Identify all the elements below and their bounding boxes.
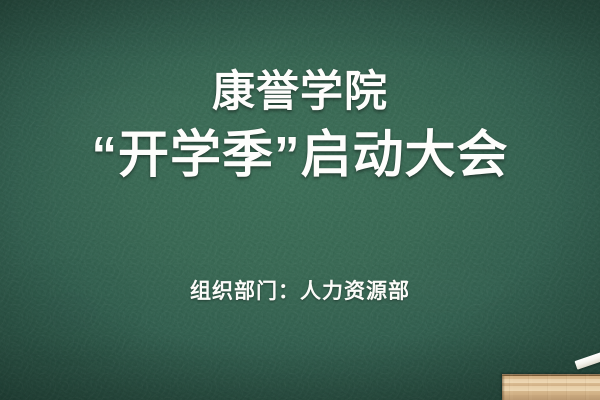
page-title: 康誉学院 “开学季”启动大会 (0, 66, 600, 186)
subtitle-organizing-department: 组织部门：人力资源部 (0, 275, 600, 305)
title-line-1: 康誉学院 (0, 66, 600, 118)
slide-content: 康誉学院 “开学季”启动大会 组织部门：人力资源部 (0, 0, 600, 400)
title-line-2: “开学季”启动大会 (0, 124, 600, 186)
ledge-left-edge (502, 376, 505, 400)
chalkboard-slide: 康誉学院 “开学季”启动大会 组织部门：人力资源部 (0, 0, 600, 400)
chalk-ledge (502, 374, 600, 400)
wood-grain (502, 374, 600, 400)
